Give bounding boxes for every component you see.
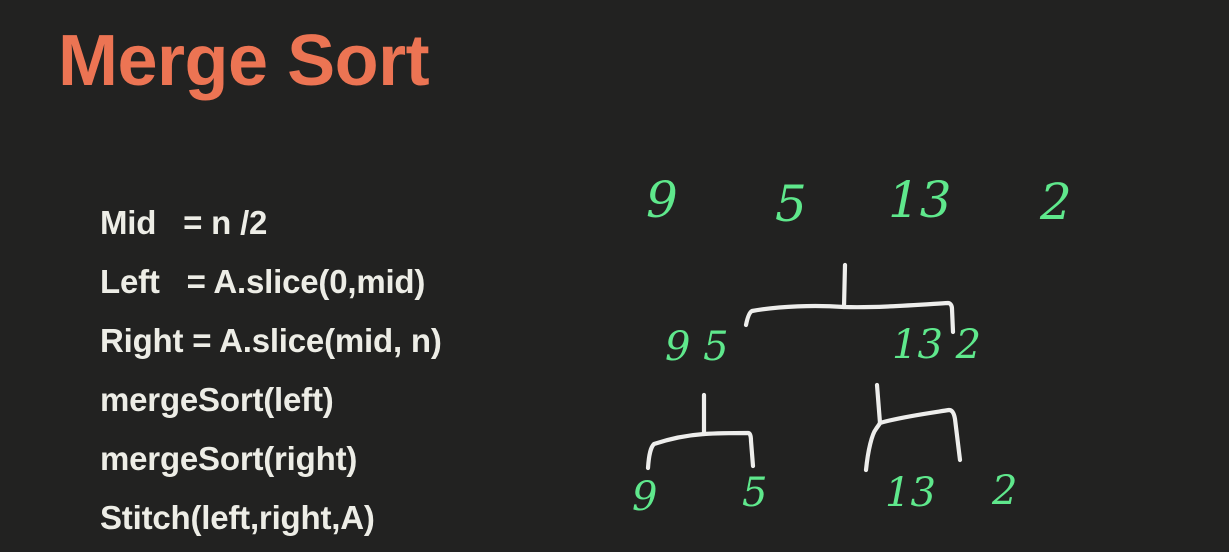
code-line: Left = A.slice(0,mid) [100,252,570,311]
code-line: Stitch(left,right,A) [100,488,570,547]
code-line: Right = A.slice(mid, n) [100,311,570,370]
tree-node-leaf-0: 9 [632,477,657,517]
tree-node-leaf-2: 13 [885,473,936,513]
tree-node-left-half: 9 5 [665,327,729,367]
pseudocode-block: Mid = n /2 Left = A.slice(0,mid) Right =… [100,193,570,547]
slide-canvas: Merge Sort Mid = n /2 Left = A.slice(0,m… [0,0,1229,552]
merge-sort-tree-diagram: 9 5 13 2 9 5 13 2 9 5 13 2 [600,155,1220,552]
tree-node-leaf-3: 2 [992,471,1017,511]
root-split-bracket-stem [844,265,845,307]
left-split-bracket-arms [648,433,753,468]
right-split-bracket-stem [877,385,880,423]
code-line: mergeSort(right) [100,429,570,488]
tree-node-root-2: 13 [888,175,952,225]
page-title: Merge Sort [58,22,429,101]
tree-node-root-0: 9 [646,175,678,225]
tree-node-root-1: 5 [775,179,807,229]
tree-node-root-3: 2 [1040,177,1072,227]
code-line: mergeSort(left) [100,370,570,429]
tree-node-leaf-1: 5 [742,473,767,513]
tree-node-right-half: 13 2 [892,325,981,365]
code-line: Mid = n /2 [100,193,570,252]
